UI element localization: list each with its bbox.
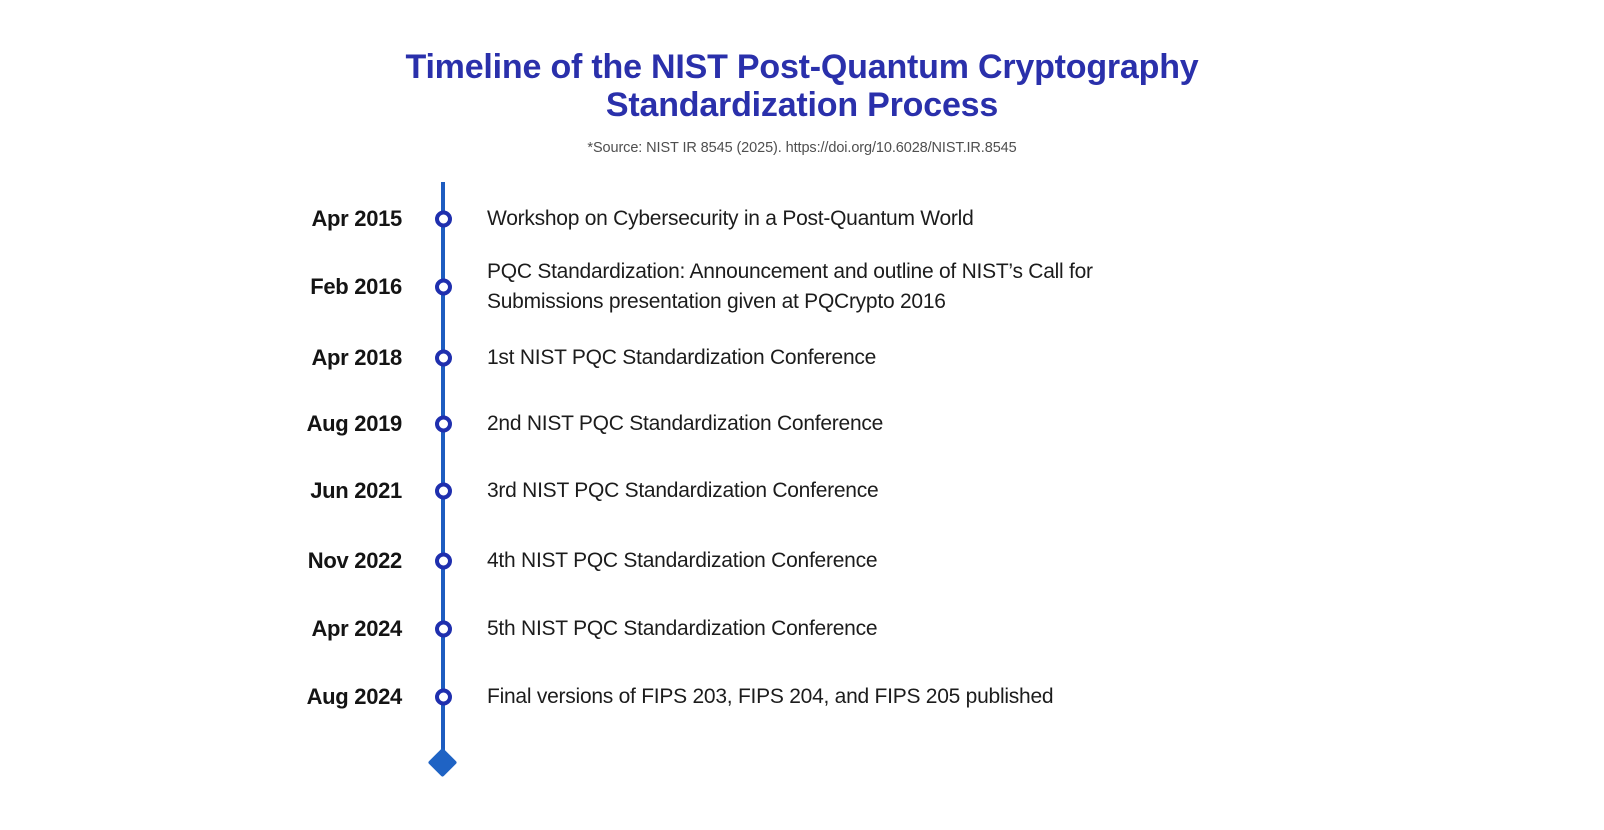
event-text-line-1: 4th NIST PQC Standardization Conference xyxy=(487,549,877,572)
timeline-spine xyxy=(441,182,445,760)
timeline-marker-icon xyxy=(435,621,452,638)
event-text-line-2: Submissions presentation given at PQCryp… xyxy=(487,287,1347,317)
event-text-line-1: 2nd NIST PQC Standardization Conference xyxy=(487,412,883,435)
timeline-marker-icon xyxy=(435,689,452,706)
event-date: Apr 2024 xyxy=(311,616,402,642)
event-description: Workshop on Cybersecurity in a Post-Quan… xyxy=(487,204,1347,234)
event-text-line-1: PQC Standardization: Announcement and ou… xyxy=(487,260,1093,283)
event-date: Apr 2015 xyxy=(311,206,402,232)
timeline-marker-icon xyxy=(435,416,452,433)
event-date: Apr 2018 xyxy=(311,345,402,371)
event-description: 4th NIST PQC Standardization Conference xyxy=(487,546,1347,576)
event-description: PQC Standardization: Announcement and ou… xyxy=(487,257,1347,317)
timeline-infographic: Timeline of the NIST Post-Quantum Crypto… xyxy=(0,0,1604,830)
event-description: Final versions of FIPS 203, FIPS 204, an… xyxy=(487,682,1347,712)
event-date: Jun 2021 xyxy=(310,478,402,504)
timeline-marker-icon xyxy=(435,279,452,296)
event-date: Feb 2016 xyxy=(310,274,402,300)
timeline-marker-icon xyxy=(435,350,452,367)
title-line-2: Standardization Process xyxy=(606,86,998,124)
event-text-line-1: Workshop on Cybersecurity in a Post-Quan… xyxy=(487,207,974,230)
event-description: 1st NIST PQC Standardization Conference xyxy=(487,343,1347,373)
event-description: 2nd NIST PQC Standardization Conference xyxy=(487,409,1347,439)
source-citation: *Source: NIST IR 8545 (2025). https://do… xyxy=(0,140,1604,156)
timeline-marker-icon xyxy=(435,211,452,228)
page-title: Timeline of the NIST Post-Quantum Crypto… xyxy=(372,48,1232,124)
event-text-line-1: 3rd NIST PQC Standardization Conference xyxy=(487,479,878,502)
event-date: Aug 2024 xyxy=(307,684,402,710)
header: Timeline of the NIST Post-Quantum Crypto… xyxy=(0,48,1604,156)
title-line-1: Timeline of the NIST Post-Quantum Crypto… xyxy=(405,48,1198,86)
event-description: 5th NIST PQC Standardization Conference xyxy=(487,614,1347,644)
event-date: Aug 2019 xyxy=(307,411,402,437)
timeline: Apr 2015Workshop on Cybersecurity in a P… xyxy=(0,182,1604,782)
diamond-icon xyxy=(428,748,458,778)
timeline-marker-icon xyxy=(435,483,452,500)
event-text-line-1: Final versions of FIPS 203, FIPS 204, an… xyxy=(487,685,1053,708)
event-date: Nov 2022 xyxy=(308,548,402,574)
event-text-line-1: 1st NIST PQC Standardization Conference xyxy=(487,346,876,369)
event-description: 3rd NIST PQC Standardization Conference xyxy=(487,476,1347,506)
event-text-line-1: 5th NIST PQC Standardization Conference xyxy=(487,617,877,640)
timeline-marker-icon xyxy=(435,553,452,570)
